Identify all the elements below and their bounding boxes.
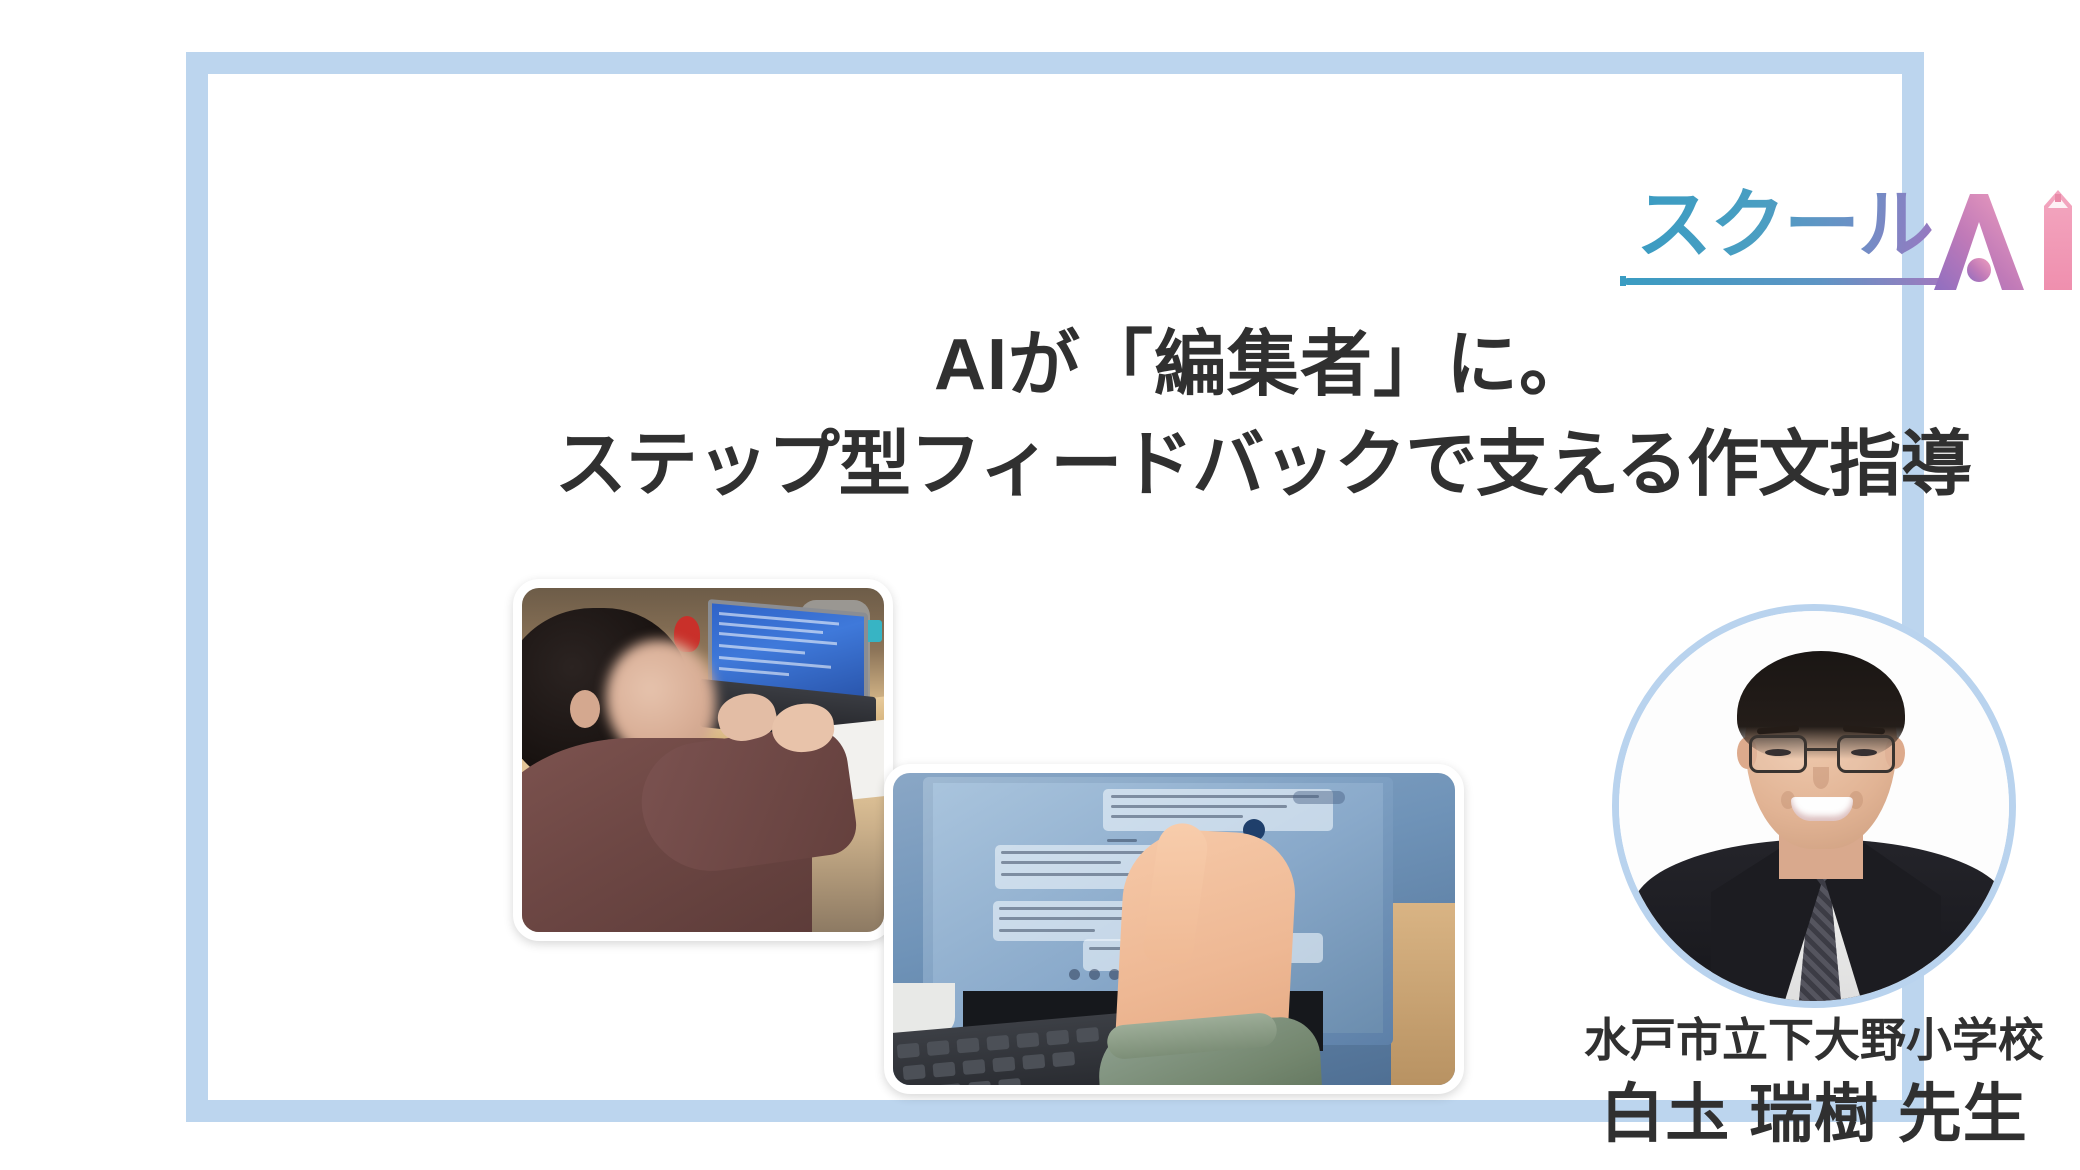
slide-frame: スクール — [186, 52, 1924, 1122]
photo-student-pointing-screen — [884, 764, 1464, 1094]
speaker-school: 水戸市立下大野小学校 — [1508, 1012, 2080, 1070]
photo-student-typing — [513, 579, 893, 941]
page-title: AIが「編集者」に。 ステップ型フィードバックで支える作文指導 — [416, 322, 2080, 510]
brand-logo-underline-dot — [1620, 276, 1626, 286]
logo-letter-a-dot-icon — [1967, 258, 1991, 282]
brand-logo: スクール — [1636, 186, 2080, 294]
page-title-line1: AIが「編集者」に。 — [416, 322, 2080, 410]
speaker-credit: 水戸市立下大野小学校 白圡 瑞樹 先生 — [1508, 1012, 2080, 1152]
brand-logo-word: スクール — [1636, 188, 1932, 264]
slide-root: スクール — [0, 0, 2080, 1170]
page-title-line2: ステップ型フィードバックで支える作文指導 — [416, 422, 2080, 510]
brand-logo-underline — [1624, 278, 1946, 285]
speaker-name: 白圡 瑞樹 先生 — [1508, 1076, 2080, 1153]
avatar — [1612, 604, 2016, 1008]
avatar-ring — [1612, 604, 2016, 1008]
brand-logo-ai-mark — [1924, 178, 2080, 296]
